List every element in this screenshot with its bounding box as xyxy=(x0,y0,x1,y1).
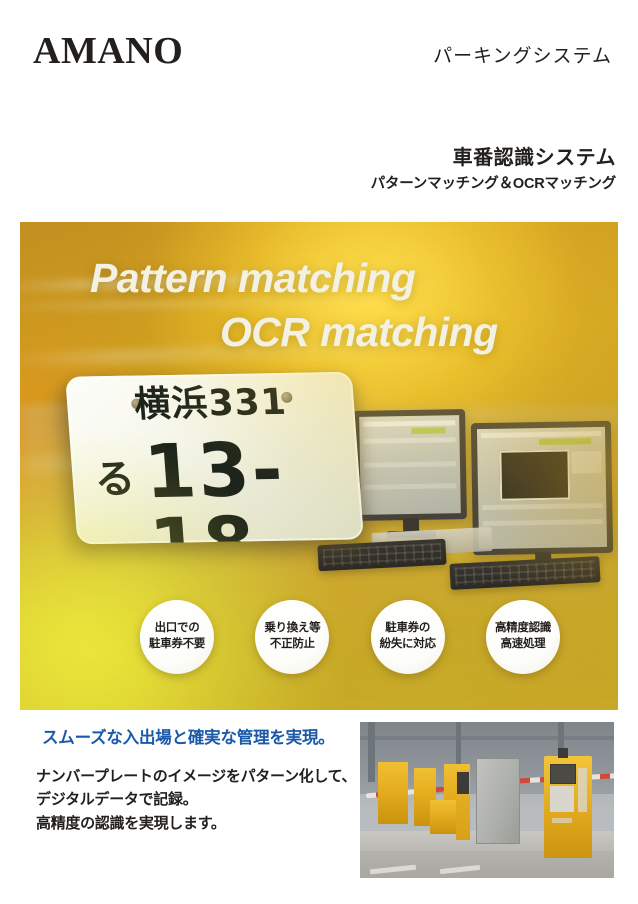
monitor-ui-bar xyxy=(483,519,603,526)
ticket-bollard-reader xyxy=(457,772,469,794)
monitor-ui-bar xyxy=(364,483,456,490)
plate-region-text: 横浜331 xyxy=(66,384,355,425)
monitor-ui-bar xyxy=(364,437,456,444)
plate-number-text: 13-18 xyxy=(142,432,364,545)
feature-badge-line2: 不正防止 xyxy=(270,637,315,653)
monitor-right xyxy=(471,421,613,555)
monitor-ui-bar xyxy=(571,451,601,474)
plate-capture-thumbnail xyxy=(499,450,570,501)
payment-kiosk xyxy=(544,756,592,858)
amano-logo: AMANO xyxy=(33,32,183,70)
control-cabinet xyxy=(476,758,520,844)
monitor-ui-bar xyxy=(364,461,456,468)
feature-badge: 乗り換え等 不正防止 xyxy=(255,600,329,674)
gate-machine xyxy=(378,762,408,824)
header-tagline: パーキングシステム xyxy=(433,47,612,66)
body-copy: ナンバープレートのイメージをパターン化して、 デジタルデータで記録。 高精度の認… xyxy=(36,765,356,835)
monitor-left-screen xyxy=(359,415,461,515)
hero-image-panel: 横浜331 る 13-18 Pattern matching OCR match… xyxy=(20,222,618,710)
feature-badge-line1: 出口での xyxy=(155,621,200,637)
kiosk-display xyxy=(550,764,576,784)
feature-badge-line2: 紛失に対応 xyxy=(380,637,436,653)
monitor-ui-accent xyxy=(539,438,591,445)
body-copy-line3: 高精度の認識を実現します。 xyxy=(36,812,356,835)
keyboard-keys xyxy=(455,560,596,585)
feature-badge-list: 出口での 駐車券不要 乗り換え等 不正防止 駐車券の 紛失に対応 高精度認識 高… xyxy=(140,600,560,674)
monitor-ui-bar xyxy=(363,420,455,427)
feature-badge: 高精度認識 高速処理 xyxy=(486,600,560,674)
kiosk-side-panel xyxy=(578,768,587,812)
feature-badge-line2: 駐車券不要 xyxy=(149,637,205,653)
monitor-ui-bar xyxy=(482,503,602,510)
kiosk-top-light xyxy=(558,748,568,758)
product-subtitle: パターンマッチング＆OCRマッチング xyxy=(371,176,616,193)
body-copy-line2: デジタルデータで記録。 xyxy=(36,788,356,811)
product-title: 車番認識システム xyxy=(453,147,616,170)
kiosk-keypad xyxy=(550,786,574,812)
feature-badge-line1: 駐車券の xyxy=(385,621,430,637)
photo-beam xyxy=(360,736,614,740)
monitor-left xyxy=(353,409,467,521)
monitor-ui-bar xyxy=(481,431,601,438)
feature-badge-line2: 高速処理 xyxy=(501,637,546,653)
feature-badge-line1: 高精度認識 xyxy=(495,621,551,637)
monitor-right-screen xyxy=(477,427,607,549)
feature-badge: 駐車券の 紛失に対応 xyxy=(371,600,445,674)
feature-badge-line1: 乗り換え等 xyxy=(264,621,320,637)
plate-kana-text: る xyxy=(93,459,136,500)
parking-gate-photo xyxy=(360,722,614,878)
body-copy-line1: ナンバープレートのイメージをパターン化して、 xyxy=(36,765,356,788)
license-plate: 横浜331 る 13-18 xyxy=(65,372,369,557)
feature-badge: 出口での 駐車券不要 xyxy=(140,600,214,674)
kiosk-ticket-slot xyxy=(552,818,572,823)
license-plate-face: 横浜331 る 13-18 xyxy=(65,372,364,545)
monitor-ui-accent xyxy=(411,427,445,434)
photo-column xyxy=(368,722,375,782)
lead-copy: スムーズな入出場と確実な管理を実現。 xyxy=(42,730,335,747)
